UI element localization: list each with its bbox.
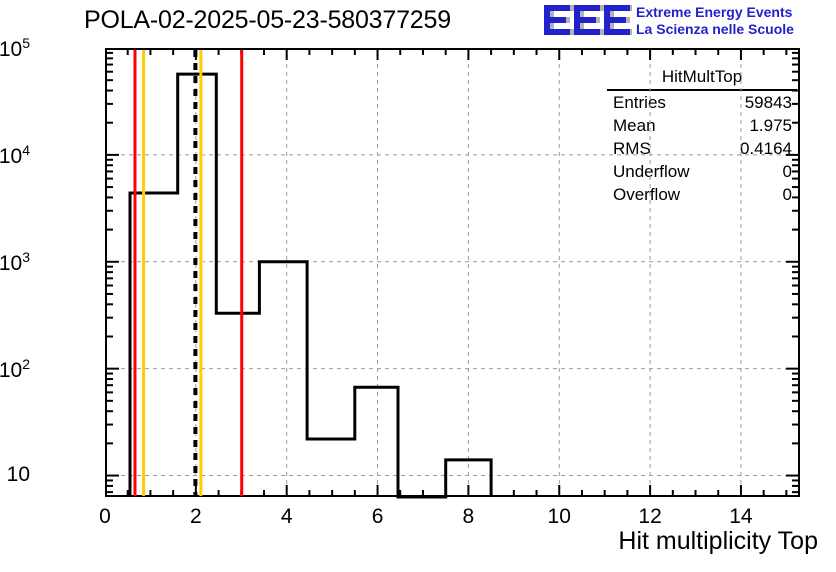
stats-value: 0	[783, 161, 792, 182]
x-axis-label: 14	[729, 505, 752, 529]
stats-key: Entries	[613, 92, 666, 113]
eee-logo: Extreme Energy Events La Scienza nelle S…	[540, 3, 832, 43]
histogram-canvas: POLA-02-2025-05-23-580377259 Extreme Ene…	[0, 0, 836, 572]
x-axis-label: 12	[638, 505, 661, 529]
x-axis-label: 10	[548, 505, 571, 529]
stats-value: 59843	[745, 92, 792, 113]
stats-row: Underflow0	[607, 160, 797, 183]
page-title: POLA-02-2025-05-23-580377259	[84, 6, 451, 35]
y-axis-label: 105	[0, 35, 30, 62]
x-axis-label: 2	[190, 505, 202, 529]
x-axis-label: 0	[99, 505, 111, 529]
stats-key: Mean	[613, 115, 656, 136]
stats-title: HitMultTop	[607, 66, 797, 91]
stats-row: Overflow0	[607, 183, 797, 206]
stats-key: Overflow	[613, 184, 680, 205]
stats-row: RMS0.4164	[607, 137, 797, 160]
x-axis-label: 8	[463, 505, 475, 529]
eee-logo-line2: La Scienza nelle Scuole	[636, 21, 836, 38]
stats-value: 0.4164	[740, 138, 792, 159]
stats-rows: Entries59843Mean1.975RMS0.4164Underflow0…	[607, 91, 797, 206]
stats-box: HitMultTop Entries59843Mean1.975RMS0.416…	[607, 66, 797, 206]
x-axis-title: Hit multiplicity Top	[618, 527, 818, 556]
stats-value: 1.975	[749, 115, 792, 136]
stats-value: 0	[783, 184, 792, 205]
y-axis-label: 102	[0, 356, 30, 383]
eee-logo-mark	[540, 5, 632, 37]
x-axis-label: 4	[281, 505, 293, 529]
y-axis-label: 103	[0, 249, 30, 276]
stats-row: Mean1.975	[607, 114, 797, 137]
eee-logo-line1: Extreme Energy Events	[636, 4, 836, 21]
stats-row: Entries59843	[607, 91, 797, 114]
y-axis-label: 10	[7, 463, 30, 487]
x-axis-label: 6	[372, 505, 384, 529]
eee-logo-text: Extreme Energy Events La Scienza nelle S…	[636, 4, 836, 38]
stats-key: RMS	[613, 138, 651, 159]
y-axis-label: 104	[0, 142, 30, 169]
stats-key: Underflow	[613, 161, 690, 182]
